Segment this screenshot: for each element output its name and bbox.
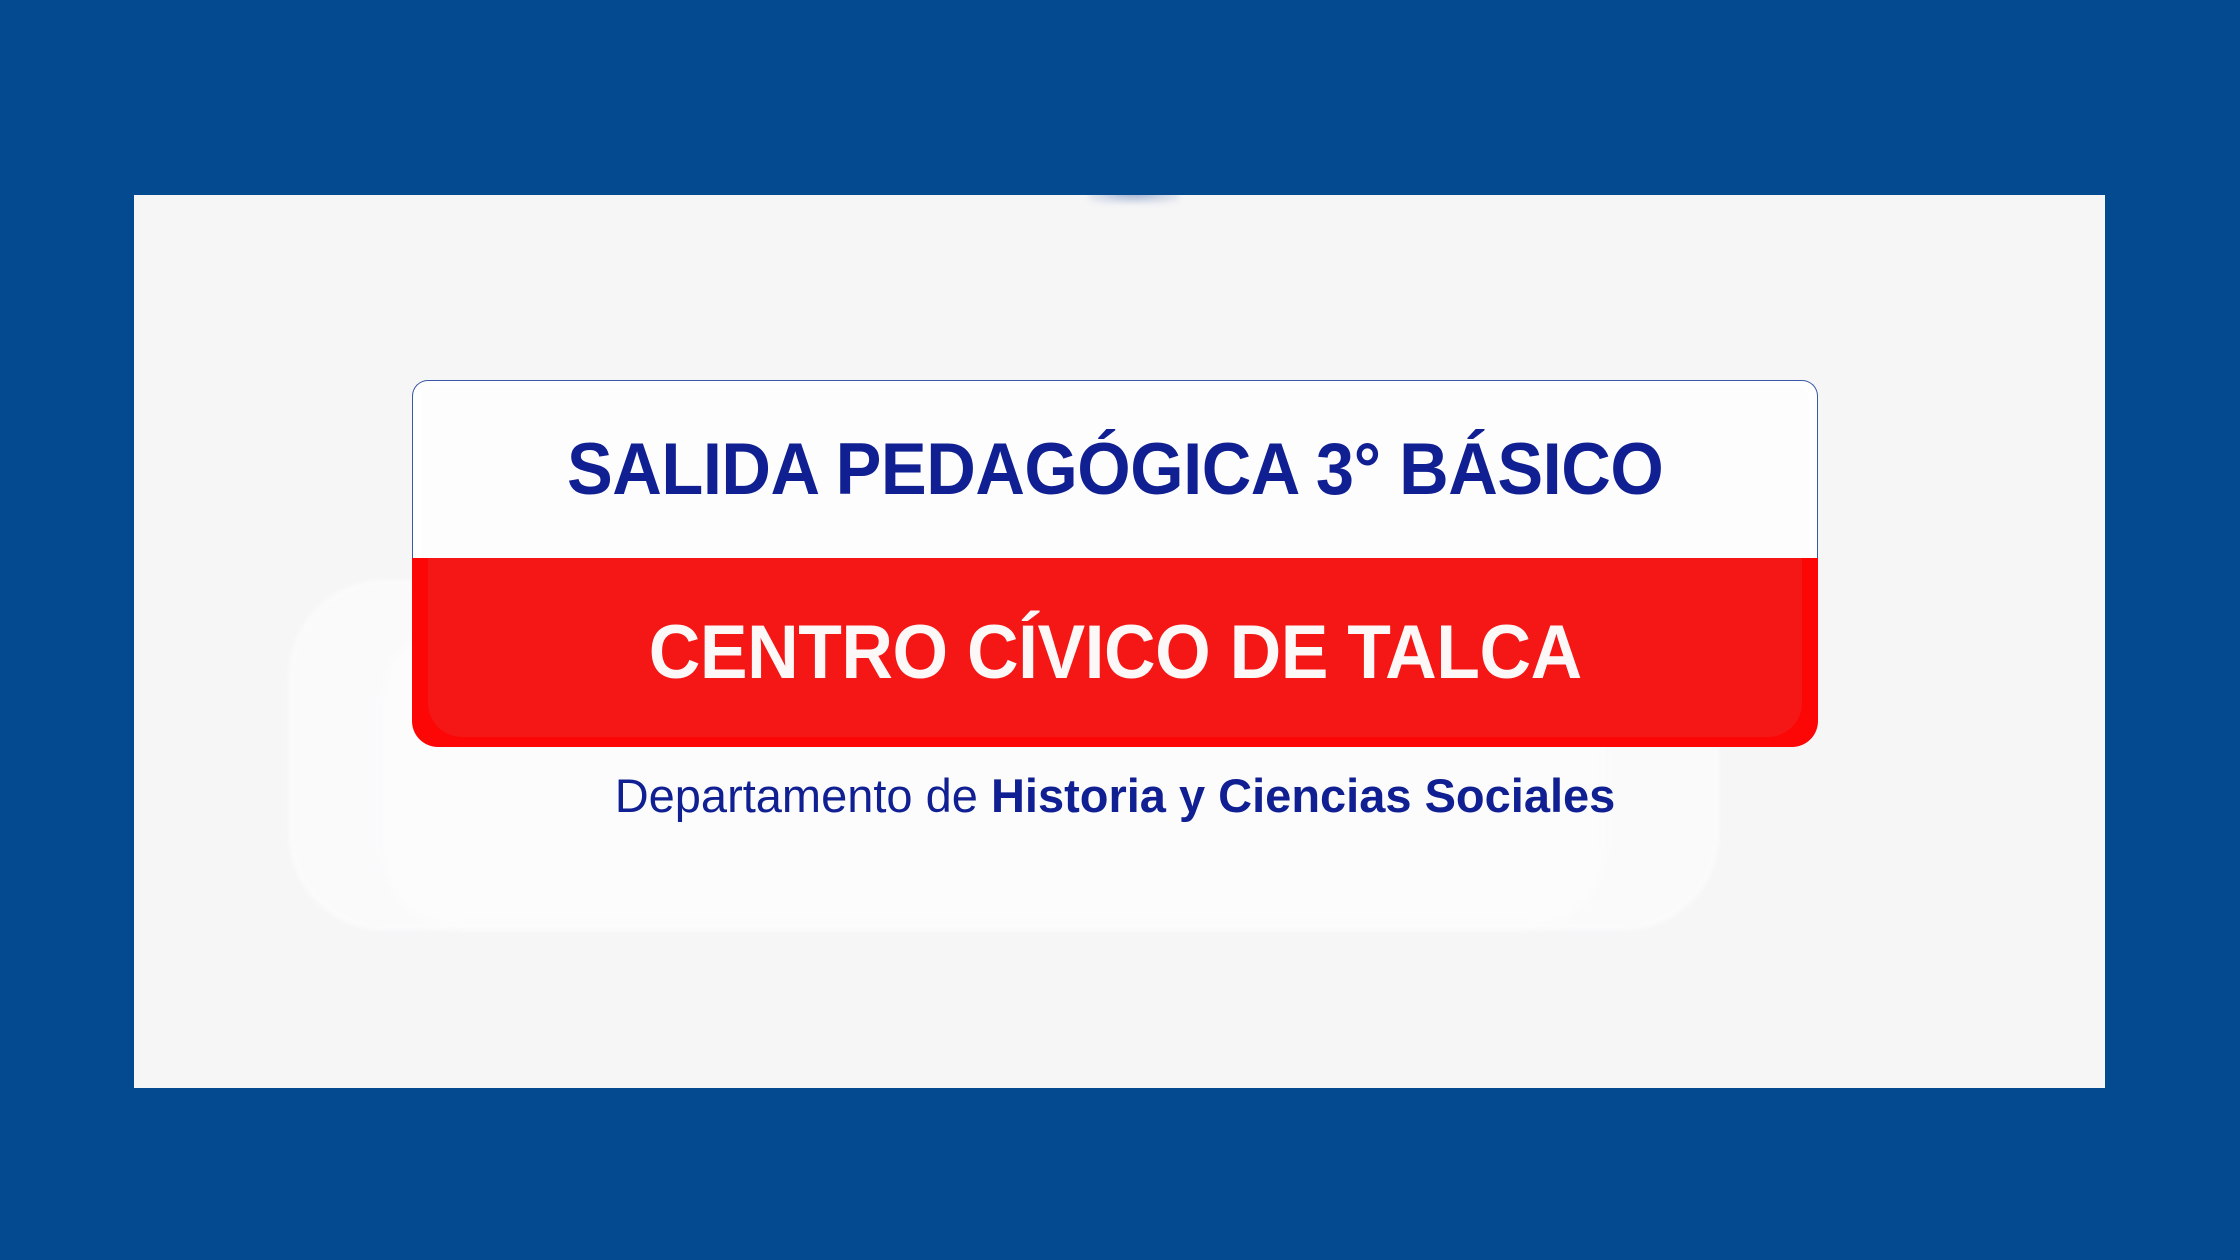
slide-subtitle: CENTRO CÍVICO DE TALCA [649,615,1582,691]
title-card: SALIDA PEDAGÓGICA 3° BÁSICO [412,380,1818,558]
headline-block: SALIDA PEDAGÓGICA 3° BÁSICO CENTRO CÍVIC… [412,380,1818,820]
presentation-stage: SALIDA PEDAGÓGICA 3° BÁSICO CENTRO CÍVIC… [0,0,2240,1260]
slide-panel: SALIDA PEDAGÓGICA 3° BÁSICO CENTRO CÍVIC… [134,195,2105,1088]
top-edge-smudge [1089,195,1179,203]
red-title-band: CENTRO CÍVICO DE TALCA [412,558,1818,747]
slide-title: SALIDA PEDAGÓGICA 3° BÁSICO [567,433,1663,506]
department-line: Departamento de Historia y Ciencias Soci… [412,771,1818,820]
department-prefix: Departamento de [615,769,991,822]
department-emphasis: Historia y Ciencias Sociales [991,769,1615,822]
